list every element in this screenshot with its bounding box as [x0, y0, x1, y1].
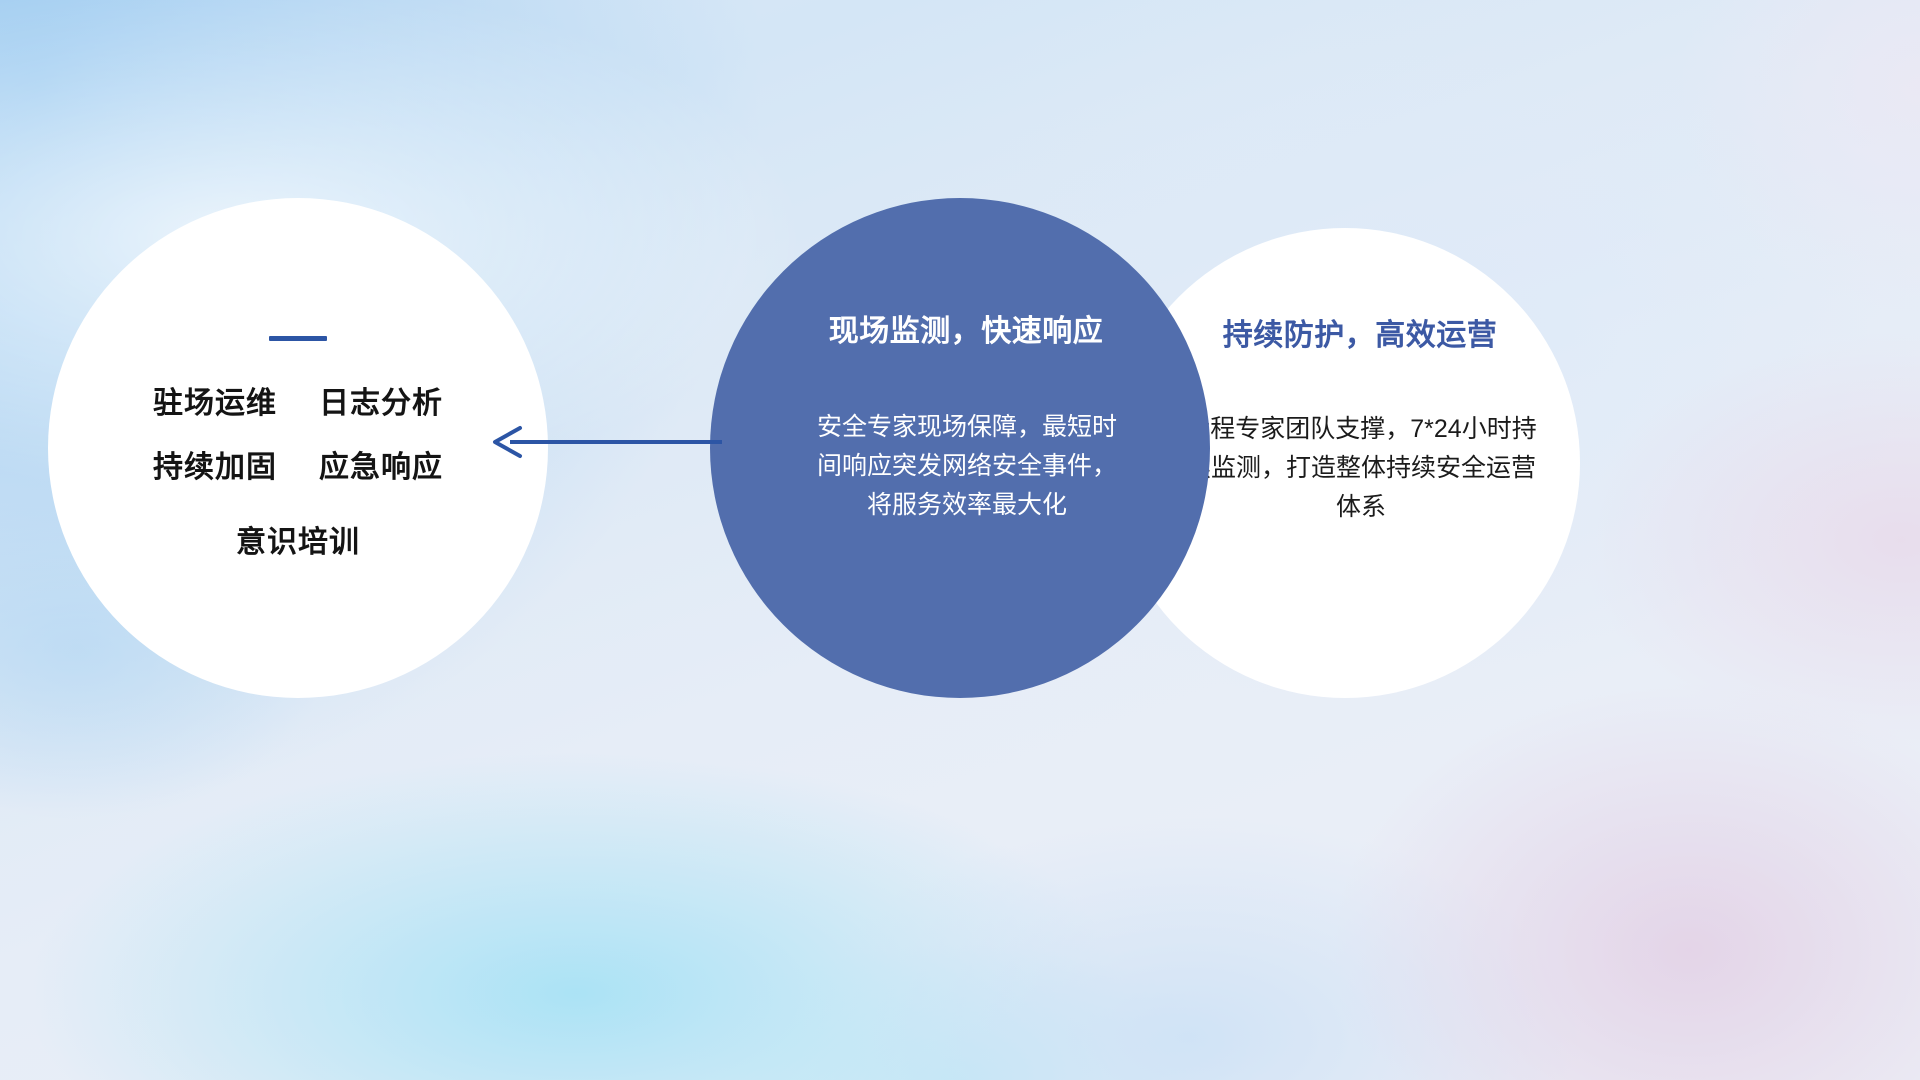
- slide-canvas: 驻场运维 日志分析 持续加固 应急响应 意识培训 持续防护，高效运营 远程专家团…: [0, 0, 1920, 1080]
- keyword-item: 意识培训: [236, 517, 360, 561]
- continuous-protection-title: 持续防护，高效运营: [1223, 310, 1498, 354]
- keyword-item: 日志分析: [319, 389, 443, 419]
- onsite-monitoring-content: 现场监测，快速响应 安全专家现场保障，最短时间响应突发网络安全事件，将服务效率最…: [710, 198, 1210, 698]
- keyword-row: 持续加固 应急响应: [153, 453, 443, 483]
- divider-rule-icon: [269, 336, 327, 341]
- continuous-protection-body: 远程专家团队支撑，7*24小时持续监测，打造整体持续安全运营体系: [1185, 410, 1537, 526]
- leftward-arrow-icon: [486, 418, 726, 466]
- capability-circle: 驻场运维 日志分析 持续加固 应急响应 意识培训: [48, 198, 548, 698]
- onsite-monitoring-body: 安全专家现场保障，最短时间响应突发网络安全事件，将服务效率最大化: [817, 408, 1117, 524]
- keyword-item: 驻场运维: [153, 389, 277, 419]
- keyword-row: 驻场运维 日志分析: [153, 389, 443, 419]
- onsite-monitoring-circle: 现场监测，快速响应 安全专家现场保障，最短时间响应突发网络安全事件，将服务效率最…: [710, 198, 1210, 698]
- capability-circle-content: 驻场运维 日志分析 持续加固 应急响应 意识培训: [48, 198, 548, 698]
- keyword-item: 持续加固: [153, 453, 277, 483]
- onsite-monitoring-title: 现场监测，快速响应: [829, 306, 1104, 350]
- keyword-item: 应急响应: [319, 453, 443, 483]
